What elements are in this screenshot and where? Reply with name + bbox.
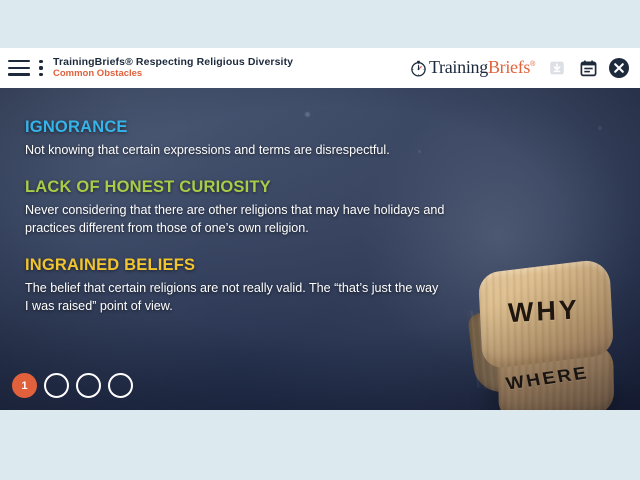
obstacle-title: INGRAINED BELIEFS <box>25 256 445 275</box>
header-right-group: TrainingBriefs® <box>410 57 630 79</box>
close-icon[interactable] <box>608 57 630 79</box>
close-glyph <box>608 57 630 79</box>
course-title: TrainingBriefs® Respecting Religious Div… <box>53 56 293 68</box>
kebab-dot <box>39 66 42 69</box>
stopwatch-icon <box>410 60 427 77</box>
obstacle-body: The belief that certain religions are no… <box>25 280 445 316</box>
obstacle-body: Never considering that there are other r… <box>25 202 445 238</box>
hamburger-menu-icon[interactable] <box>8 60 30 76</box>
notes-glyph <box>579 59 598 78</box>
slide-stage: WHERE WHY IGNORANCE Not knowing that cer… <box>0 88 640 410</box>
brand-word-briefs: Briefs <box>488 57 530 77</box>
kebab-dot <box>39 73 42 76</box>
course-player: TrainingBriefs® Respecting Religious Div… <box>0 0 640 480</box>
pagination-dot-3[interactable] <box>76 373 101 398</box>
obstacle-block: LACK OF HONEST CURIOSITY Never consideri… <box>25 178 445 238</box>
obstacle-title: IGNORANCE <box>25 118 445 137</box>
brand-word-training: Training <box>429 57 488 77</box>
pagination-dot-1[interactable]: 1 <box>12 373 37 398</box>
hamburger-line <box>8 73 30 76</box>
trainingbriefs-logo: TrainingBriefs® <box>410 58 535 79</box>
download-icon[interactable] <box>546 57 568 79</box>
hamburger-line <box>8 67 30 70</box>
hamburger-line <box>8 60 30 63</box>
brand-registered-mark: ® <box>530 61 535 68</box>
kebab-dot <box>39 60 42 63</box>
kebab-more-icon[interactable] <box>39 60 43 76</box>
obstacle-title: LACK OF HONEST CURIOSITY <box>25 178 445 197</box>
download-glyph <box>548 59 566 77</box>
header-left-group: TrainingBriefs® Respecting Religious Div… <box>8 56 293 80</box>
slide-content: IGNORANCE Not knowing that certain expre… <box>25 118 445 315</box>
breadcrumb: TrainingBriefs® Respecting Religious Div… <box>53 56 293 80</box>
pagination-dot-4[interactable] <box>108 373 133 398</box>
player-header: TrainingBriefs® Respecting Religious Div… <box>0 48 640 88</box>
slide-pagination: 1 <box>12 373 133 398</box>
obstacle-block: INGRAINED BELIEFS The belief that certai… <box>25 256 445 316</box>
obstacle-block: IGNORANCE Not knowing that certain expre… <box>25 118 445 160</box>
obstacle-body: Not knowing that certain expressions and… <box>25 142 445 160</box>
lesson-subtitle: Common Obstacles <box>53 69 293 80</box>
brand-wordmark: TrainingBriefs® <box>429 57 535 78</box>
notes-icon[interactable] <box>577 57 599 79</box>
pagination-dot-2[interactable] <box>44 373 69 398</box>
